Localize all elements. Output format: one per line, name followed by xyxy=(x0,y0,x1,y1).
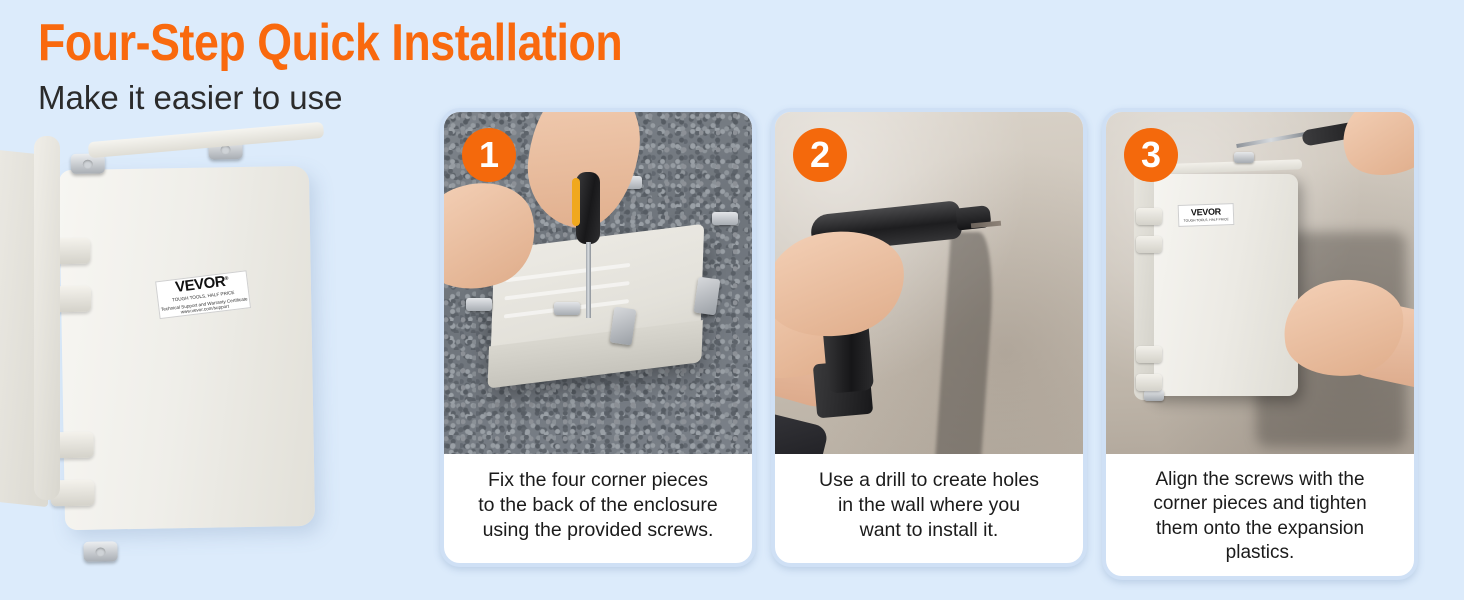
vevor-brand-label: VEVOR TOUGH TOOLS, HALF PRICE xyxy=(1178,203,1235,227)
mounting-tab-icon xyxy=(1234,152,1254,163)
caption-line: in the wall where you xyxy=(785,493,1073,518)
vevor-brand-label: VEVOR® TOUGH TOOLS, HALF PRICE Technical… xyxy=(155,270,251,319)
caption-line: using the provided screws. xyxy=(454,518,742,543)
registered-mark: ® xyxy=(224,275,228,281)
caption-line: Fix the four corner pieces xyxy=(454,468,742,493)
enclosure-lid-edge xyxy=(88,122,324,159)
screwdriver-handle xyxy=(576,172,600,244)
step-3-photo: VEVOR TOUGH TOOLS, HALF PRICE 3 xyxy=(1106,112,1414,454)
step-1-photo: 1 xyxy=(444,112,752,454)
corner-piece-icon xyxy=(466,298,492,311)
step-card-2[interactable]: 2 Use a drill to create holes in the wal… xyxy=(771,108,1087,567)
hero-product-image: VEVOR® TOUGH TOOLS, HALF PRICE Technical… xyxy=(40,138,410,568)
caption-line: corner pieces and tighten xyxy=(1116,492,1404,516)
step-1-caption: Fix the four corner pieces to the back o… xyxy=(444,454,752,555)
caption-line: want to install it. xyxy=(785,518,1073,543)
enclosure-hinge-column xyxy=(34,136,60,500)
enclosure-rib xyxy=(505,263,630,282)
corner-piece-icon xyxy=(554,302,580,315)
steps-container: 1 Fix the four corner pieces to the back… xyxy=(440,108,1430,586)
hinge-icon xyxy=(1136,236,1162,253)
brand-tagline: TOUGH TOOLS, HALF PRICE xyxy=(1184,217,1229,223)
mounting-tab-icon xyxy=(83,541,117,562)
hinge-icon xyxy=(1136,208,1162,225)
page-title: Four-Step Quick Installation xyxy=(38,16,622,70)
step-number-badge-2: 2 xyxy=(793,128,847,182)
step-card-3[interactable]: VEVOR TOUGH TOOLS, HALF PRICE 3 Align th… xyxy=(1102,108,1418,580)
caption-line: Align the screws with the xyxy=(1116,468,1404,492)
caption-line: to the back of the enclosure xyxy=(454,493,742,518)
step-number-badge-1: 1 xyxy=(462,128,516,182)
caption-line: Use a drill to create holes xyxy=(785,468,1073,493)
hinge-icon xyxy=(1136,346,1162,363)
screwdriver-shaft xyxy=(586,242,591,318)
step-2-photo: 2 xyxy=(775,112,1083,454)
step-card-1[interactable]: 1 Fix the four corner pieces to the back… xyxy=(440,108,756,567)
step-3-caption: Align the screws with the corner pieces … xyxy=(1106,454,1414,577)
step-2-caption: Use a drill to create holes in the wall … xyxy=(775,454,1083,555)
step-number-badge-3: 3 xyxy=(1124,128,1178,182)
mounting-tab-icon xyxy=(1144,390,1164,401)
header-block: Four-Step Quick Installation Make it eas… xyxy=(38,16,717,116)
brand-text: VEVOR xyxy=(1191,207,1221,217)
caption-line: them onto the expansion xyxy=(1116,517,1404,541)
enclosure-rib xyxy=(505,281,630,300)
caption-line: plastics. xyxy=(1116,541,1404,565)
enclosure-body: VEVOR® TOUGH TOOLS, HALF PRICE Technical… xyxy=(59,166,315,530)
corner-piece-icon xyxy=(712,212,738,225)
hinge-icon xyxy=(1136,374,1162,391)
